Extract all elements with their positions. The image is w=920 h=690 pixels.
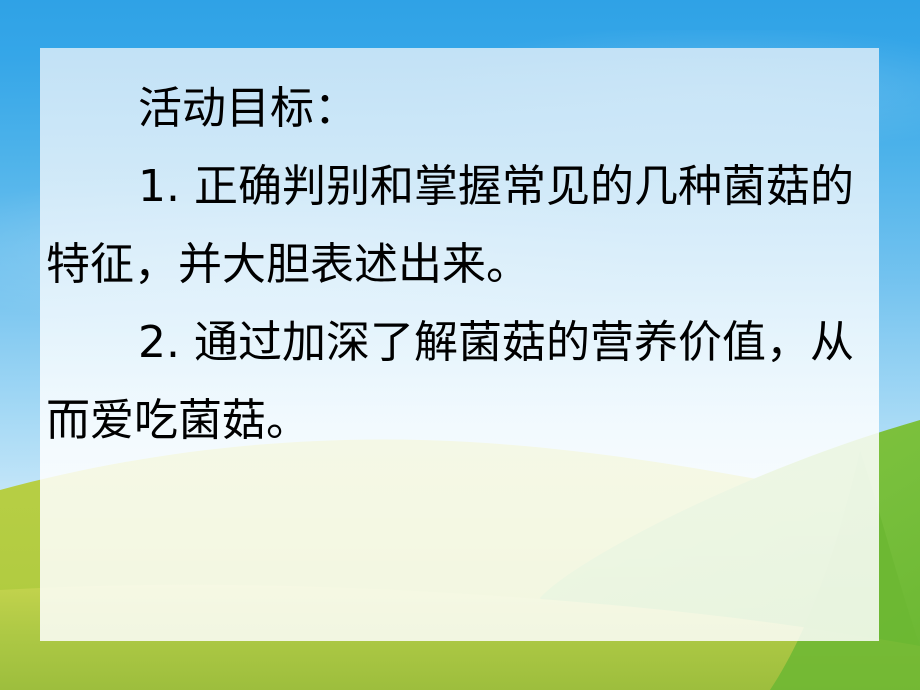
objective-2-line-1: 2. 通过加深了解菌菇的营养价值，从 (46, 304, 875, 382)
slide-canvas: 活动目标： 1. 正确判别和掌握常见的几种菌菇的 特征，并大胆表述出来。 2. … (0, 0, 920, 690)
objective-2-line-2: 而爱吃菌菇。 (46, 382, 875, 460)
objective-1-line-2: 特征，并大胆表述出来。 (46, 226, 875, 304)
objective-1-line-1: 1. 正确判别和掌握常见的几种菌菇的 (46, 148, 875, 226)
content-text-block: 活动目标： 1. 正确判别和掌握常见的几种菌菇的 特征，并大胆表述出来。 2. … (40, 48, 879, 641)
objectives-title: 活动目标： (46, 70, 875, 148)
